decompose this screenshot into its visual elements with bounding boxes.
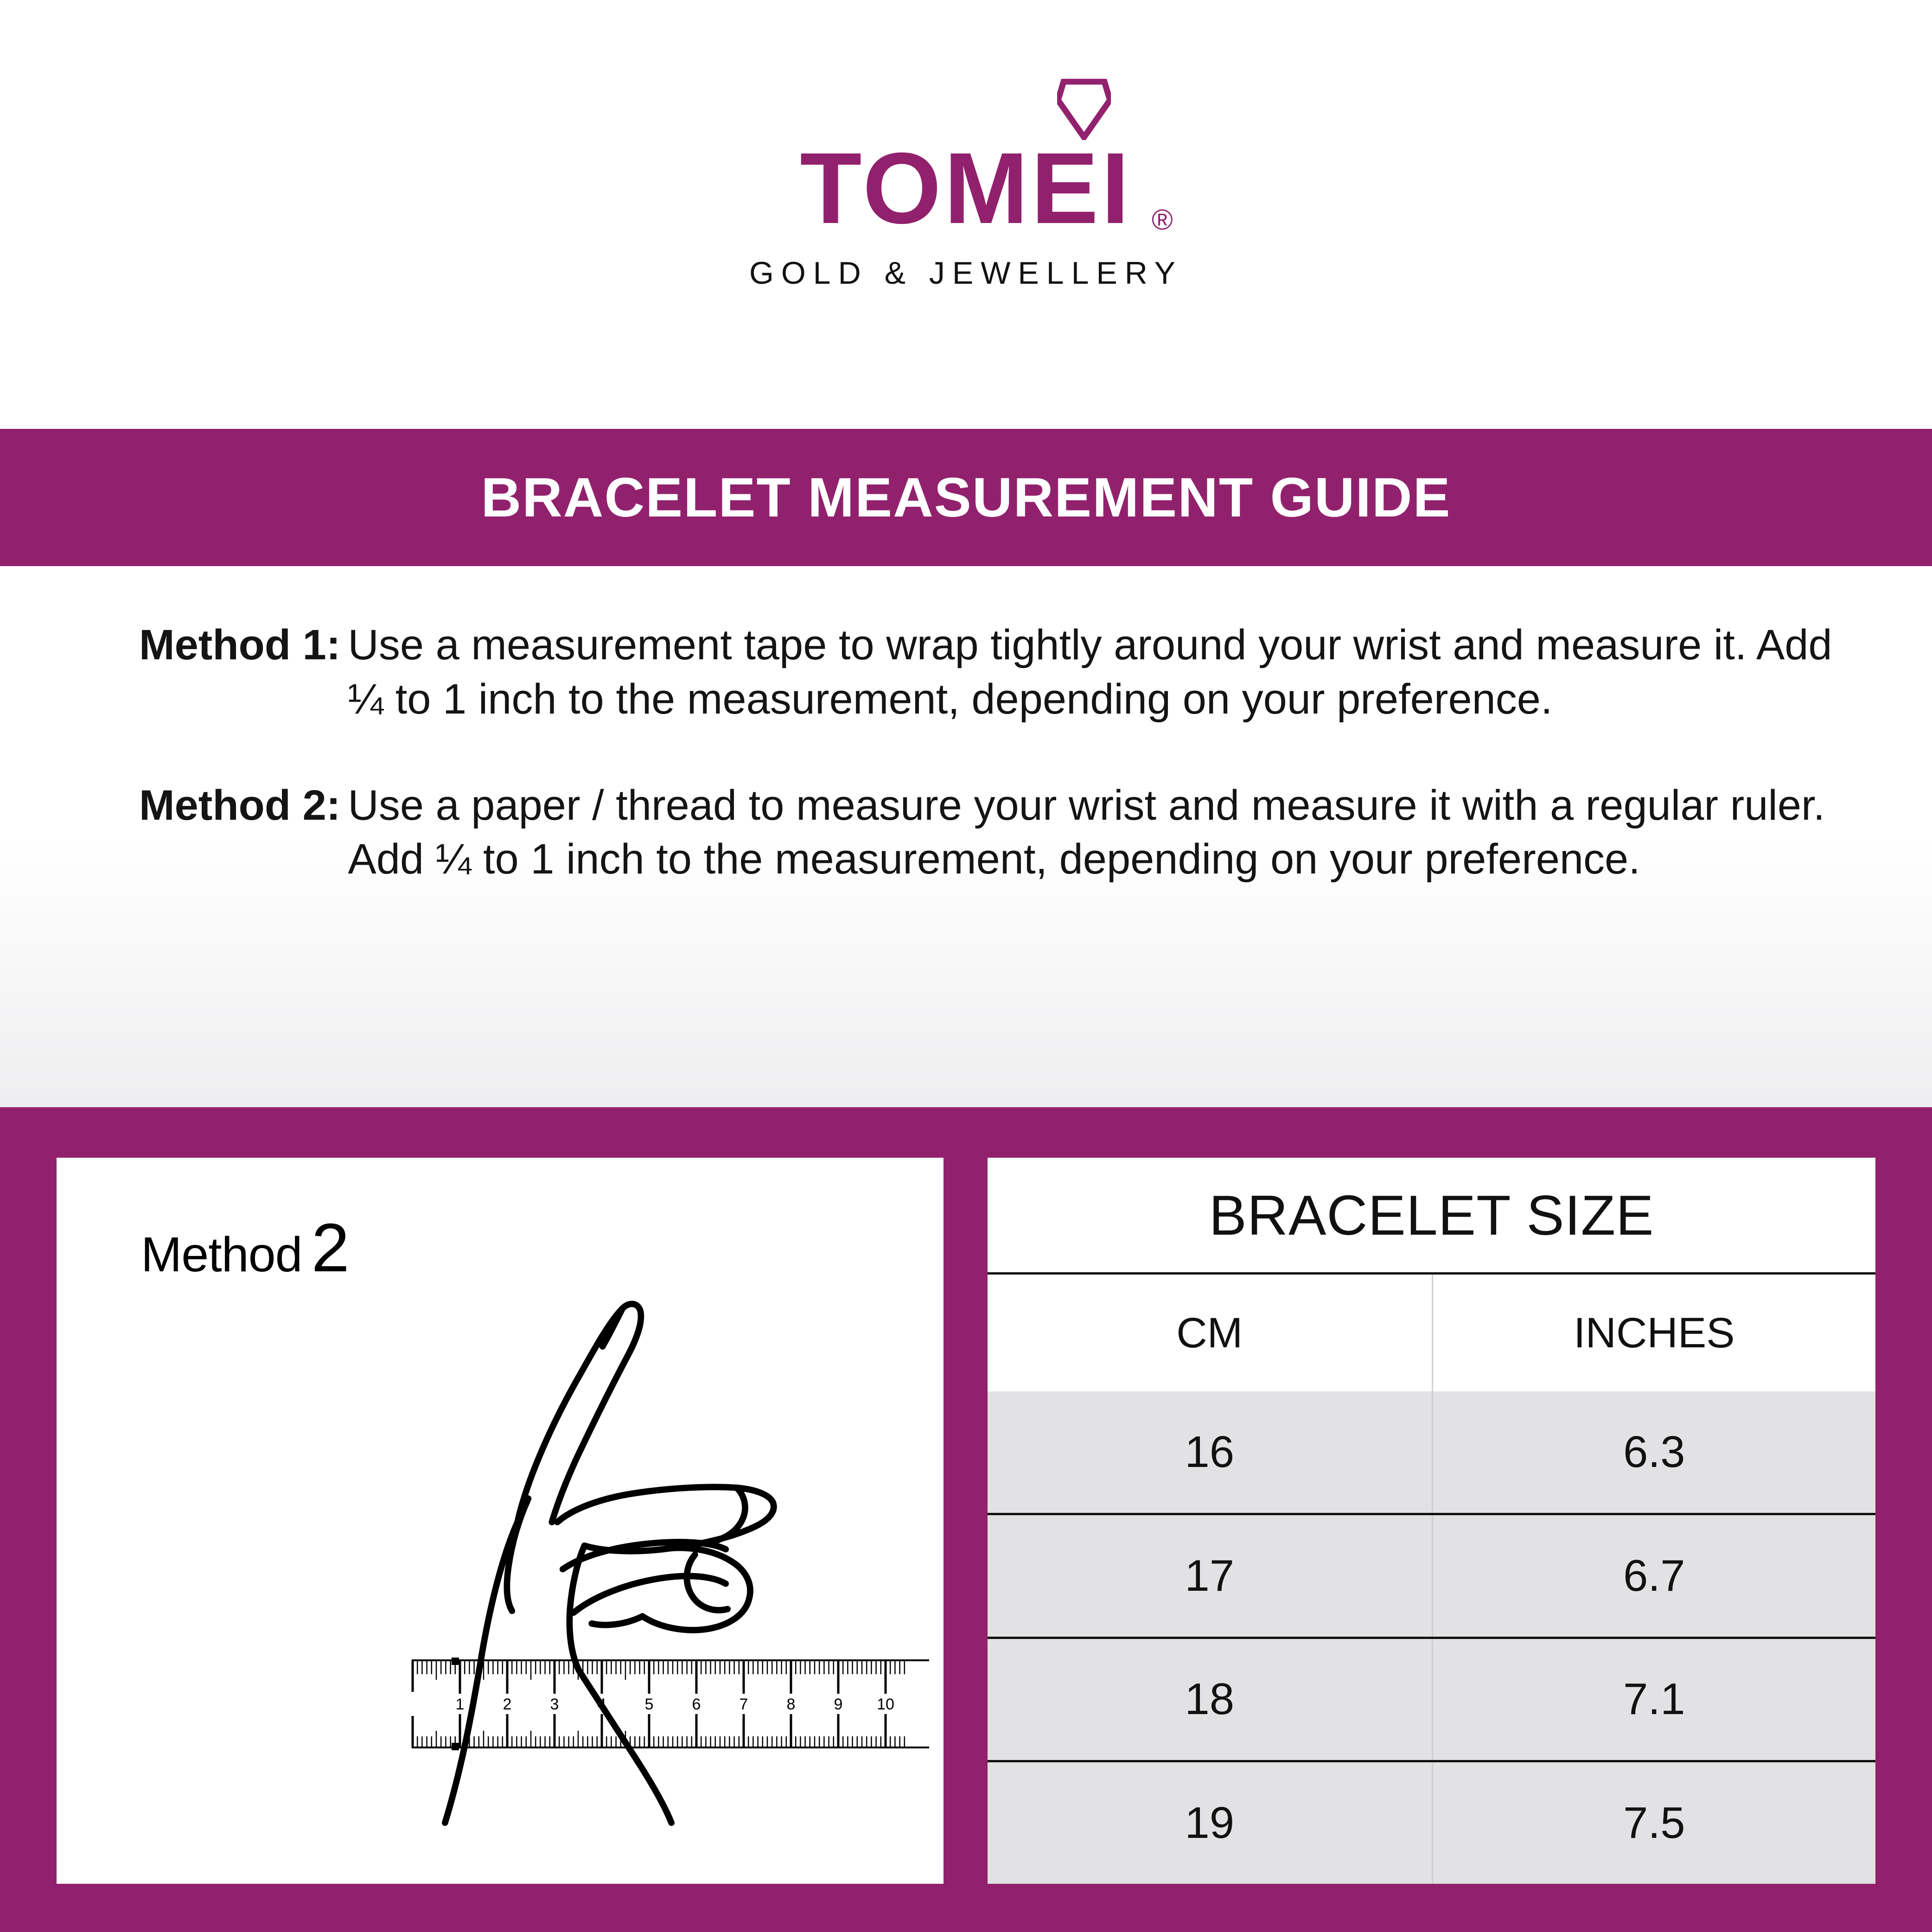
registered-trademark-icon: ®: [1152, 204, 1173, 236]
cell-inches: 7.1: [1432, 1639, 1876, 1760]
ruler-label: 3: [550, 1696, 559, 1713]
page-title: BRACELET MEASUREMENT GUIDE: [481, 465, 1451, 529]
table-row: 16 6.3: [988, 1391, 1875, 1513]
method-1-row: Method 1: Use a measurement tape to wrap…: [0, 618, 1932, 727]
column-header-inches: INCHES: [1432, 1275, 1876, 1391]
diamond-icon: [1057, 79, 1111, 140]
ruler-label: 8: [787, 1696, 796, 1713]
ruler-label: 1: [456, 1696, 465, 1713]
bracelet-size-table: BRACELET SIZE CM INCHES 16 6.3 17 6.7 18…: [988, 1158, 1875, 1884]
method-1-text: Use a measurement tape to wrap tightly a…: [340, 618, 1858, 727]
ruler-label: 9: [834, 1696, 843, 1713]
ruler-label: 4: [598, 1696, 606, 1713]
ruler-label: 6: [692, 1696, 701, 1713]
size-table-body: 16 6.3 17 6.7 18 7.1 19 7.5: [988, 1391, 1875, 1884]
ruler-label: 10: [877, 1696, 894, 1713]
method-1-label: Method 1:: [139, 618, 340, 672]
methods-section: Method 1: Use a measurement tape to wrap…: [0, 566, 1932, 1107]
brand-name: TOMEI: [800, 132, 1132, 245]
size-table-title: BRACELET SIZE: [1209, 1183, 1654, 1248]
method-2-row: Method 2: Use a paper / thread to measur…: [0, 778, 1932, 887]
cell-cm: 19: [988, 1762, 1432, 1884]
brand-tagline: GOLD & JEWELLERY: [749, 255, 1183, 291]
table-row: 17 6.7: [988, 1513, 1875, 1637]
table-row: 18 7.1: [988, 1637, 1875, 1760]
ruler-label: 5: [645, 1696, 654, 1713]
ruler-icon: 12345678910: [409, 1658, 932, 1750]
table-row: 19 7.5: [988, 1760, 1875, 1884]
ruler-label: 7: [740, 1696, 748, 1713]
thread-marker-top: [452, 1658, 459, 1665]
size-table-title-row: BRACELET SIZE: [988, 1158, 1875, 1275]
illustration-card: Method 2: [57, 1158, 944, 1884]
cell-inches: 7.5: [1432, 1762, 1876, 1884]
size-table-header-row: CM INCHES: [988, 1275, 1875, 1391]
method-2-text: Use a paper / thread to measure your wri…: [340, 778, 1858, 887]
thread-marker-bottom: [452, 1743, 459, 1750]
cell-cm: 17: [988, 1515, 1432, 1637]
cell-inches: 6.3: [1432, 1391, 1876, 1513]
brand-wordmark-wrapper: TOMEI ®: [800, 138, 1132, 239]
cell-cm: 18: [988, 1639, 1432, 1760]
page-title-banner: BRACELET MEASUREMENT GUIDE: [0, 429, 1932, 566]
cell-inches: 6.7: [1432, 1515, 1876, 1637]
column-header-cm: CM: [988, 1275, 1432, 1391]
cell-cm: 16: [988, 1391, 1432, 1513]
method-2-label: Method 2:: [139, 778, 340, 833]
illustration-method-word: Method: [141, 1227, 302, 1283]
ruler-label: 2: [503, 1696, 512, 1713]
brand-logo-block: TOMEI ® GOLD & JEWELLERY: [0, 0, 1932, 429]
